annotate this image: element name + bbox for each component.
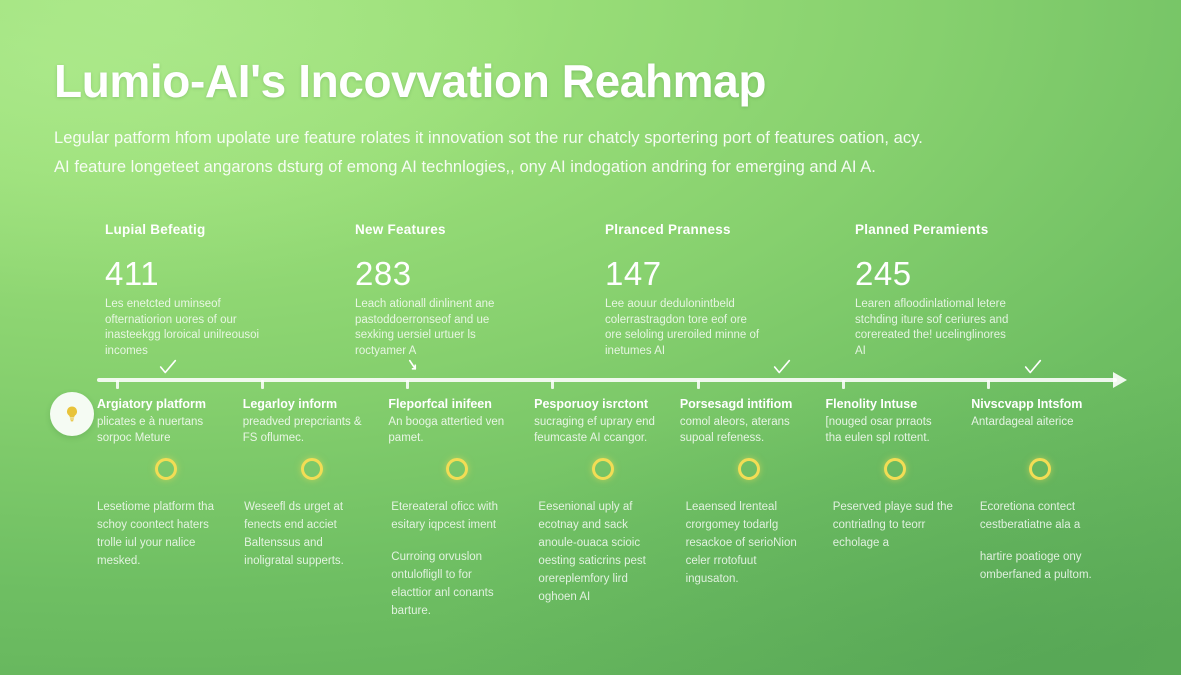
detail-item: Lesetiome platform tha schoy coontect ha… (97, 498, 244, 634)
stat-description: Lee aouur dedulonintbeld colerrastragdon… (605, 297, 765, 359)
timeline-tick (987, 380, 990, 389)
ring-marker-cell (826, 458, 972, 480)
ring-marker-cell (388, 458, 534, 480)
milestone-item: Nivscvapp Intsfom Antardageal aiterice (971, 396, 1117, 446)
timeline-tick (842, 380, 845, 389)
milestone-title: Argiatory platform (97, 396, 221, 413)
circle-marker-icon (884, 458, 906, 480)
ring-marker-cell (243, 458, 389, 480)
timeline-tick (116, 380, 119, 389)
ring-marker-row (97, 458, 1117, 480)
stat-value: 147 (605, 257, 775, 291)
timeline-tick (406, 380, 409, 389)
page-title: Lumio-AI's Incovvation Reahmap (54, 52, 1144, 110)
detail-paragraph: Eesenional uply af ecotnay and sack anou… (538, 498, 661, 606)
detail-paragraph: hartire poatioge ony omberfaned a pultom… (980, 548, 1103, 584)
stat-description: Leach ationall dinlinent ane pastoddoerr… (355, 297, 515, 359)
milestone-subtitle: comol aleors, aterans supoal refeness. (680, 415, 804, 446)
timeline-tick (551, 380, 554, 389)
ring-marker-cell (971, 458, 1117, 480)
timeline-axis-line (97, 378, 1117, 382)
circle-marker-icon (155, 458, 177, 480)
timeline-tick (697, 380, 700, 389)
stat-description: Learen afloodinlatiomal letere stchding … (855, 297, 1015, 359)
ring-marker-cell (97, 458, 243, 480)
milestone-item: Legarloy inform preadved prepcriants & F… (243, 396, 389, 446)
detail-item: Ecoretiona contect cestberatiatne ala a … (980, 498, 1127, 634)
stat-description: Les enetcted uminseof ofternatiorion uor… (105, 297, 265, 359)
detail-item: Eesenional uply af ecotnay and sack anou… (538, 498, 685, 634)
check-icon (771, 356, 793, 378)
circle-marker-icon (592, 458, 614, 480)
ring-marker-cell (680, 458, 826, 480)
stat-card: Lupial Befeatig 411 Les enetcted uminseo… (105, 222, 355, 359)
subtitle-line-2: AI feature longeteet angarons dsturg of … (54, 153, 1129, 182)
timeline-tick (261, 380, 264, 389)
milestone-row: Argiatory platform plicates e à nuertans… (97, 396, 1117, 446)
detail-item: Etereateral oficc with esitary iqpcest i… (391, 498, 538, 634)
milestone-item: Fleporfcal inifeen An booga attertied ve… (388, 396, 534, 446)
detail-paragraph: Curroing orvuslon ontulofligll to for el… (391, 548, 514, 620)
stat-value: 283 (355, 257, 525, 291)
detail-item: Weseefl ds urget at fenects end acciet B… (244, 498, 391, 634)
circle-marker-icon (1029, 458, 1051, 480)
stats-row: Lupial Befeatig 411 Les enetcted uminseo… (105, 222, 1105, 359)
stat-label: Plranced Pranness (605, 222, 775, 237)
arrow-right-icon (1113, 372, 1127, 388)
detail-paragraph: Leaensed lrenteal crorgomey todarlg resa… (686, 498, 809, 588)
detail-paragraph: Etereateral oficc with esitary iqpcest i… (391, 498, 514, 534)
circle-marker-icon (301, 458, 323, 480)
milestone-title: Flenolity Intuse (826, 396, 950, 413)
detail-paragraph: Ecoretiona contect cestberatiatne ala a (980, 498, 1103, 534)
milestone-item: Pesporuoy isrctont sucraging ef uprary e… (534, 396, 680, 446)
circle-marker-icon (738, 458, 760, 480)
detail-item: Peserved playe sud the contriatlng to te… (833, 498, 980, 634)
milestone-title: Legarloy inform (243, 396, 367, 413)
milestone-title: Pesporuoy isrctont (534, 396, 658, 413)
stat-label: Planned Peramients (855, 222, 1025, 237)
milestone-subtitle: preadved prepcriants & FS oflumec. (243, 415, 367, 446)
check-icon (396, 356, 418, 378)
milestone-subtitle: An booga attertied ven pamet. (388, 415, 512, 446)
header: Lumio-AI's Incovvation Reahmap Legular p… (54, 52, 1144, 182)
stat-label: New Features (355, 222, 525, 237)
check-icon (157, 356, 179, 378)
milestone-subtitle: sucraging ef uprary end feumcaste AI cca… (534, 415, 658, 446)
milestone-subtitle: plicates e à nuertans sorpoc Meture (97, 415, 221, 446)
detail-paragraph: Lesetiome platform tha schoy coontect ha… (97, 498, 220, 570)
ring-marker-cell (534, 458, 680, 480)
stat-card: New Features 283 Leach ationall dinlinen… (355, 222, 605, 359)
stat-card: Plranced Pranness 147 Lee aouur deduloni… (605, 222, 855, 359)
stat-value: 245 (855, 257, 1025, 291)
stat-value: 411 (105, 257, 275, 291)
stat-label: Lupial Befeatig (105, 222, 275, 237)
milestone-subtitle: [nouged osar prraots tha eulen spl rotte… (826, 415, 950, 446)
detail-paragraph: Peserved playe sud the contriatlng to te… (833, 498, 956, 552)
milestone-title: Porsesagd intifiom (680, 396, 804, 413)
detail-row: Lesetiome platform tha schoy coontect ha… (97, 498, 1127, 634)
detail-item: Leaensed lrenteal crorgomey todarlg resa… (686, 498, 833, 634)
milestone-title: Nivscvapp Intsfom (971, 396, 1095, 413)
infographic-poster: Lumio-AI's Incovvation Reahmap Legular p… (0, 0, 1181, 675)
check-icon (1022, 356, 1044, 378)
circle-marker-icon (446, 458, 468, 480)
milestone-item: Porsesagd intifiom comol aleors, aterans… (680, 396, 826, 446)
subtitle-line-1: Legular patform hfom upolate ure feature… (54, 124, 1129, 153)
milestone-subtitle: Antardageal aiterice (971, 415, 1095, 431)
page-subtitle: Legular patform hfom upolate ure feature… (54, 124, 1129, 182)
milestone-title: Fleporfcal inifeen (388, 396, 512, 413)
milestone-item: Argiatory platform plicates e à nuertans… (97, 396, 243, 446)
milestone-item: Flenolity Intuse [nouged osar prraots th… (826, 396, 972, 446)
stat-card: Planned Peramients 245 Learen afloodinla… (855, 222, 1105, 359)
lightbulb-icon (50, 392, 94, 436)
detail-paragraph: Weseefl ds urget at fenects end acciet B… (244, 498, 367, 570)
